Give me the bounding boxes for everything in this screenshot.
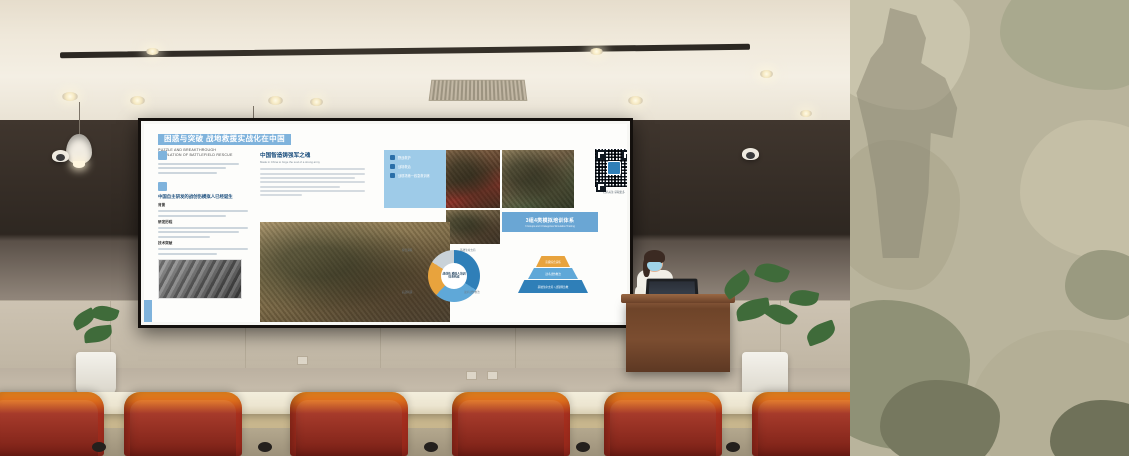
section-marker-icon [158,182,167,191]
funnel-level-3: 基础生命支持 / 战现场急救 [518,280,588,293]
donut-center-label: 战创伤 模拟人培训 体系构成 [441,273,467,280]
wall-outlet [487,371,498,380]
downlight [62,92,78,101]
donut-legend-3: 综合演练 [402,248,412,252]
rescue-photo-3 [446,210,500,244]
downlight [590,48,603,55]
camo-patch [1000,0,1129,90]
downlight [146,48,159,55]
poster-title-cn: 困惑与突破 战地救援实战化在中国 [158,134,291,146]
blue-panel-item: 战现场第一线急救训练 [390,173,446,178]
auditorium-chair [752,392,850,456]
auditorium-chair [290,392,408,456]
qr-code-block: 扫码关注 获取更多 [594,148,627,194]
chair-wheel [92,442,106,452]
downlight [628,96,643,105]
band-title-en: 3 Groups and 4 Categories Simulation Tra… [525,225,575,228]
downlight [310,98,323,106]
rescue-photo-1 [446,150,500,208]
presentation-poster: 困惑与突破 战地救援实战化在中国 PUZZLE AND BREAKTHROUGH… [144,124,627,322]
donut-legend-0: 基础生命支持 [460,248,476,252]
poster-accent-bar [144,300,152,322]
chair-wheel [258,442,272,452]
plant-pot [76,352,116,396]
donut-legend-1: 战术战伤救治 [464,290,480,294]
qr-logo-icon [607,161,621,175]
historical-photo [158,259,242,299]
downlight [760,70,773,78]
blue-panel-item: 野战救护 [390,155,446,160]
camo-patch [1020,120,1129,260]
chair-wheel [726,442,740,452]
auditorium-chair [0,392,104,456]
left-sub-1: 背景 [158,203,248,208]
downlight [268,96,283,105]
donut-ring: 战创伤 模拟人培训 体系构成 [428,250,480,302]
left-sub-2: 研发历程 [158,220,248,225]
ceiling [0,0,850,128]
wall-outlet [466,371,477,380]
auditorium-chair [604,392,722,456]
blue-panel-item: 战场救治 [390,164,446,169]
ceiling-vent [429,80,528,101]
bullet-square-icon [390,173,395,178]
chair-wheel [424,442,438,452]
qr-code [594,148,627,188]
downlight [800,110,812,117]
camo-patch [1065,250,1129,320]
pendant-lamp-wire [79,102,80,136]
band-title-cn: 3组4类模拟培训体系 [526,217,575,224]
poster-blue-panel: 野战救护 战场救治 战现场第一线急救训练 [384,150,452,208]
poster-left-column: 中国自主研发的战创伤模拟人已经诞生 背景 研发历程 技术突破 [158,151,248,299]
chair-wheel [576,442,590,452]
downlight [130,96,145,105]
left-sub-3: 技术突破 [158,241,248,246]
podium [626,300,730,372]
wall-outlet [297,356,308,365]
conference-room-scene: 困惑与突破 战地救援实战化在中国 PUZZLE AND BREAKTHROUGH… [0,0,850,456]
section-marker-icon [158,151,167,160]
bullet-square-icon [390,164,395,169]
auditorium-chair [124,392,242,456]
funnel-diagram: 高级综合演练 战术战伤救治 基础生命支持 / 战现场急救 [510,246,596,308]
camo-patch [880,380,1000,456]
donut-chart: 战创伤 模拟人培训 体系构成 基础生命支持 战术战伤救治 后送转运 综合演练 [402,246,494,308]
rescue-photo-2 [502,150,574,208]
bullet-square-icon [390,155,395,160]
donut-legend-2: 后送转运 [402,290,412,294]
auditorium-chair [452,392,570,456]
funnel-level-1: 高级综合演练 [536,256,570,267]
poster-middle-column: 中国智造铸强军之魂 Made in China to forge the sou… [260,151,365,199]
middle-body-text [260,168,365,196]
funnel-level-2: 战术战伤救治 [528,268,578,279]
camouflage-background: 9:41 张瑾 12月14日 [850,0,1129,456]
led-display-screen: 困惑与突破 战地救援实战化在中国 PUZZLE AND BREAKTHROUGH… [138,118,633,328]
middle-heading-en: Made in China to forge the soul of a str… [260,161,365,165]
screenshot-stage: 困惑与突破 战地救援实战化在中国 PUZZLE AND BREAKTHROUGH… [0,0,1129,456]
training-system-band: 3组4类模拟培训体系 3 Groups and 4 Categories Sim… [502,212,598,232]
pendant-lamp [66,134,92,164]
dome-camera [52,150,69,162]
middle-heading-cn: 中国智造铸强军之魂 [260,151,365,159]
dome-camera [742,148,759,160]
left-section-title: 中国自主研发的战创伤模拟人已经诞生 [158,194,248,200]
